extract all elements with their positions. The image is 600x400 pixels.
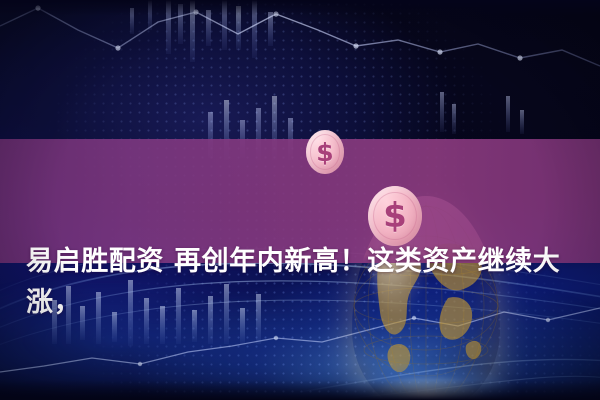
banner-image: $ $ 易启胜配资 再创年内新高！这类资产继续大涨， 后市分歧出现？ (0, 0, 600, 400)
headline-text: 易启胜配资 再创年内新高！这类资产继续大涨， 后市分歧出现？ (0, 139, 600, 263)
headline-line-1: 易启胜配资 再创年内新高！这类资产继续大涨， (26, 241, 578, 323)
bottom-edge-shade (0, 380, 600, 400)
top-edge-shade (0, 0, 600, 16)
